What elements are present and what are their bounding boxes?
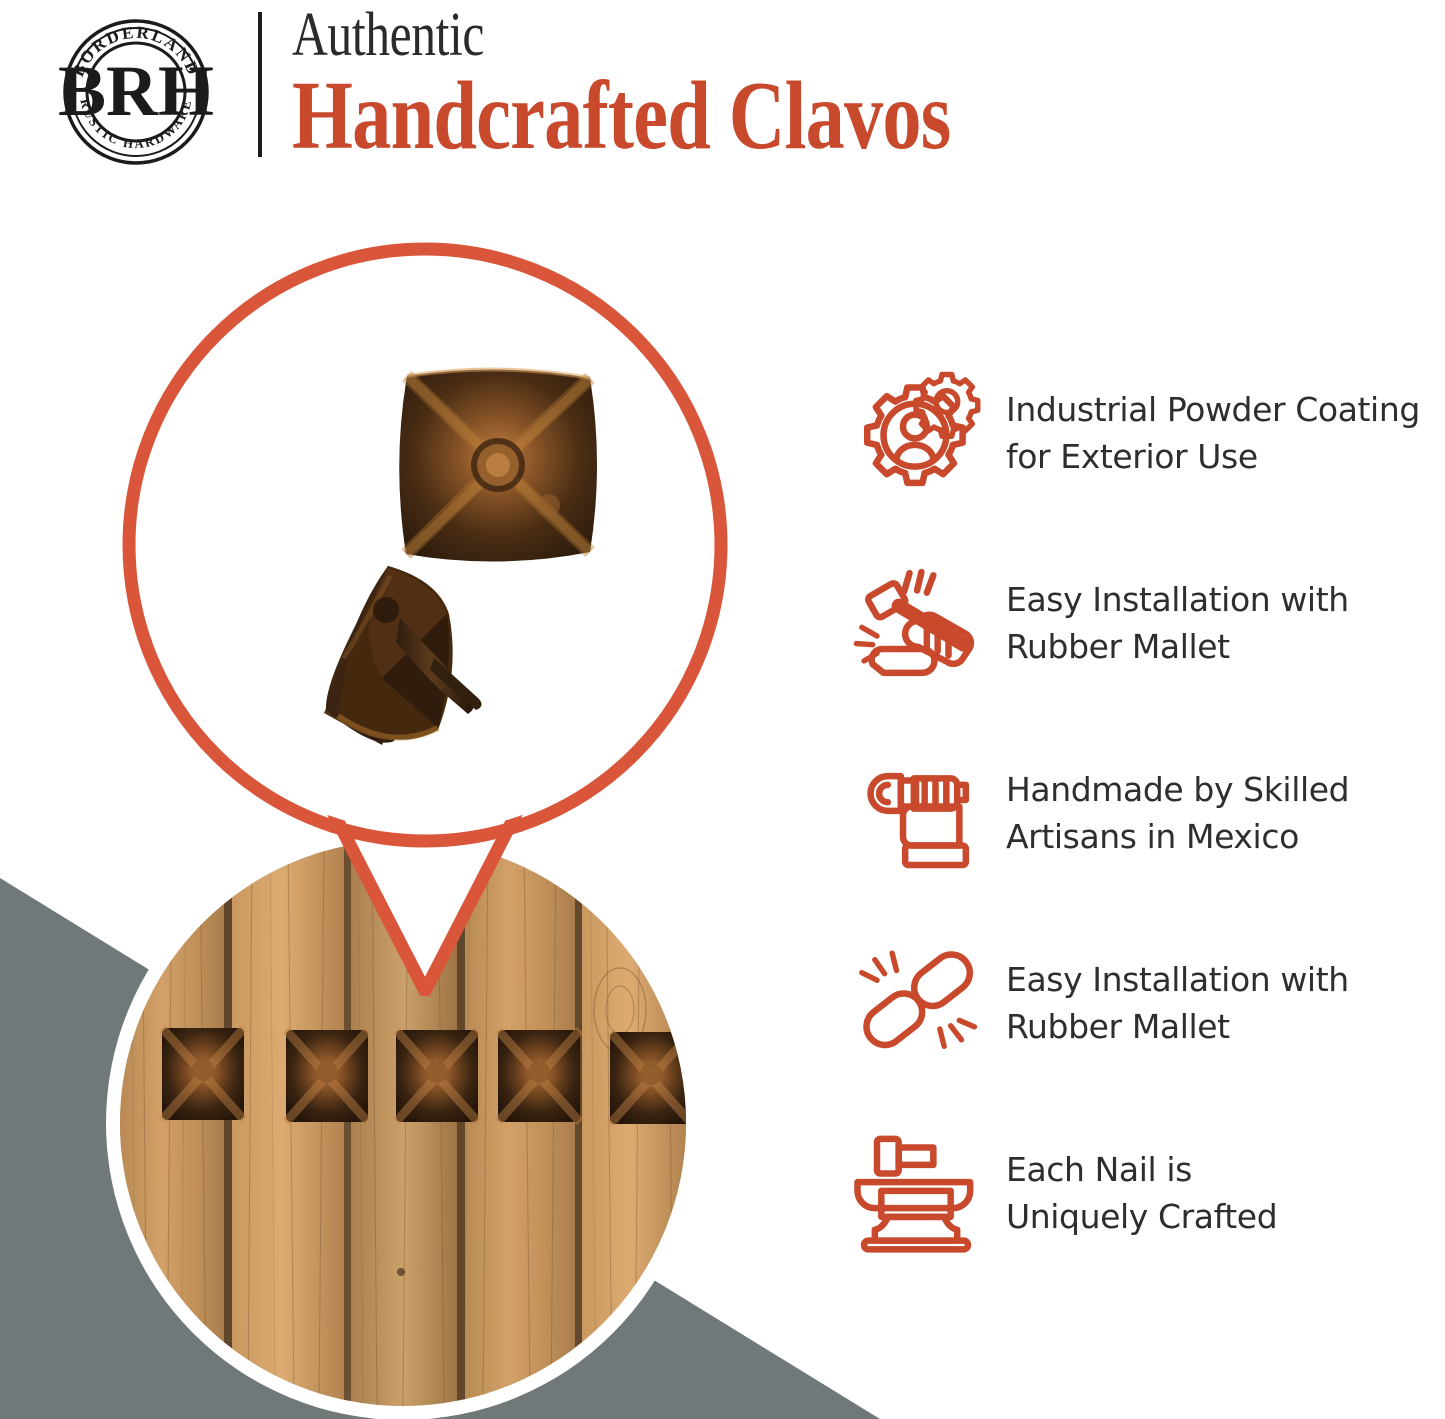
title-eyebrow: Authentic — [292, 2, 951, 68]
fist-wrench-icon — [836, 741, 996, 886]
clavos-product-illustration — [138, 258, 712, 832]
gear-person-icon — [836, 361, 996, 506]
mallet-hand-icon — [836, 551, 996, 696]
header-divider — [258, 12, 262, 157]
feature-line-1: Handmade by Skilled — [1006, 766, 1349, 813]
feature-item-uniquely-crafted: Each Nail is Uniquely Crafted — [836, 1118, 1445, 1268]
brh-seal-icon: BORDERLAND RUSTIC HARDWARE BRH — [58, 12, 248, 167]
feature-label: Easy Installation with Rubber Mallet — [996, 956, 1349, 1050]
feature-list: Industrial Powder Coating for Exterior U… — [836, 358, 1445, 1268]
feature-label: Industrial Powder Coating for Exterior U… — [996, 386, 1420, 480]
brand-logo: BORDERLAND RUSTIC HARDWARE BRH — [58, 12, 248, 167]
feature-label: Handmade by Skilled Artisans in Mexico — [996, 766, 1349, 860]
feature-line-2: Uniquely Crafted — [1006, 1193, 1277, 1240]
product-callout-bubble — [116, 236, 734, 854]
handcrafted-clavos-nails-photo — [138, 258, 712, 832]
anvil-hammer-icon — [836, 1121, 996, 1266]
feature-line-1: Easy Installation with — [1006, 956, 1349, 1003]
feature-line-2: Rubber Mallet — [1006, 1003, 1349, 1050]
title-block: Authentic Handcrafted Clavos — [292, 2, 1115, 166]
feature-label: Each Nail is Uniquely Crafted — [996, 1146, 1277, 1240]
feature-line-2: for Exterior Use — [1006, 433, 1420, 480]
feature-item-handmade-artisans: Handmade by Skilled Artisans in Mexico — [836, 738, 1445, 888]
infographic-page: BORDERLAND RUSTIC HARDWARE BRH Authentic… — [0, 0, 1445, 1419]
feature-line-2: Rubber Mallet — [1006, 623, 1349, 670]
feature-item-industrial-powder-coating: Industrial Powder Coating for Exterior U… — [836, 358, 1445, 508]
page-title: Handcrafted Clavos — [292, 66, 951, 166]
feature-line-1: Each Nail is — [1006, 1146, 1277, 1193]
header: BORDERLAND RUSTIC HARDWARE BRH Authentic… — [0, 0, 1445, 180]
feature-item-easy-installation-1: Easy Installation with Rubber Mallet — [836, 548, 1445, 698]
clavo-face-view — [399, 369, 597, 561]
chain-link-icon — [836, 931, 996, 1076]
feature-line-2: Artisans in Mexico — [1006, 813, 1349, 860]
logo-monogram: BRH — [58, 51, 214, 131]
feature-item-easy-installation-2: Easy Installation with Rubber Mallet — [836, 928, 1445, 1078]
feature-line-1: Easy Installation with — [1006, 576, 1349, 623]
feature-label: Easy Installation with Rubber Mallet — [996, 576, 1349, 670]
feature-line-1: Industrial Powder Coating — [1006, 386, 1420, 433]
